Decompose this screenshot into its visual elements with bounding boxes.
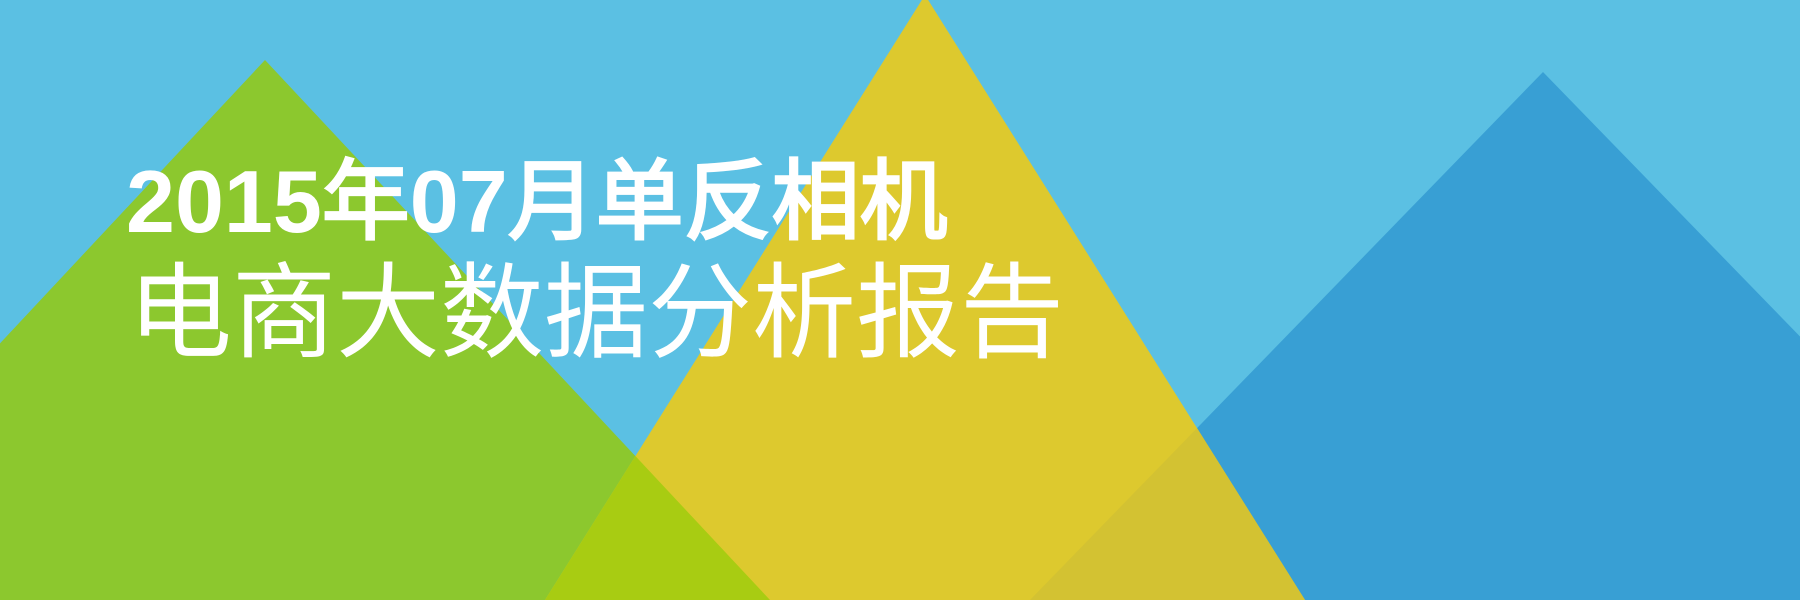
report-cover-banner: 2015年07月单反相机 电商大数据分析报告 <box>0 0 1800 600</box>
mountain-background-graphic <box>0 0 1800 600</box>
